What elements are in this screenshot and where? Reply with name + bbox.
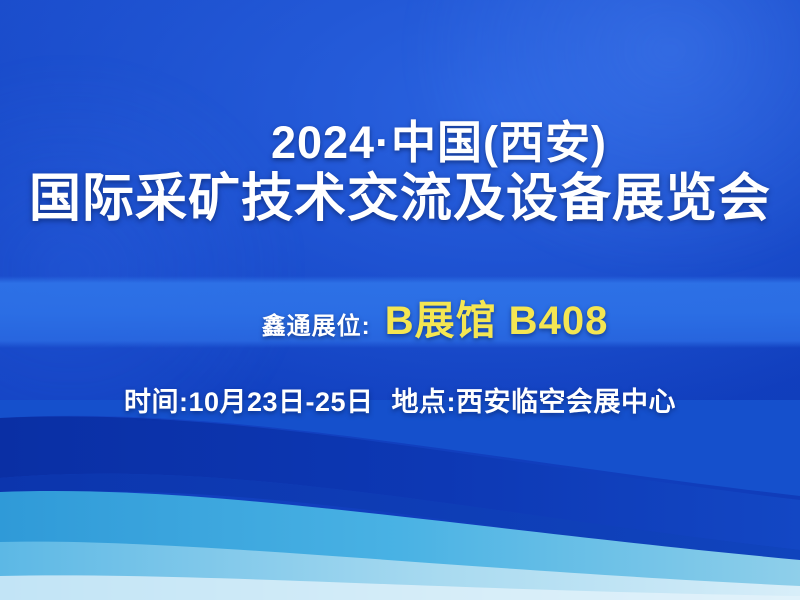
booth-label: 鑫通展位: <box>262 306 371 341</box>
title-line-1: 2024·中国(西安) <box>0 118 800 168</box>
bottom-wave-decoration <box>0 400 800 600</box>
event-date: 时间:10月23日-25日 <box>124 380 374 419</box>
event-meta-row: 时间:10月23日-25日 地点:西安临空会展中心 <box>0 380 800 419</box>
title-line-2: 国际采矿技术交流及设备展览会 <box>0 170 800 228</box>
exhibition-banner: 2024·中国(西安) 国际采矿技术交流及设备展览会 鑫通展位: B展馆 B40… <box>0 0 800 600</box>
booth-number: B展馆 B408 <box>385 288 609 346</box>
event-venue: 地点:西安临空会展中心 <box>392 380 677 419</box>
booth-info-row: 鑫通展位: B展馆 B408 <box>0 288 800 346</box>
event-title: 2024·中国(西安) 国际采矿技术交流及设备展览会 <box>0 118 800 229</box>
